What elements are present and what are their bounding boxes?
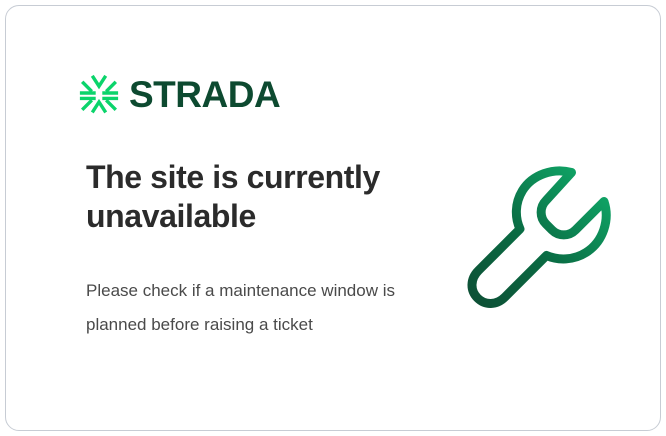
brand-wordmark: STRADA <box>129 76 280 113</box>
page-title: The site is currently unavailable <box>86 158 426 236</box>
strada-asterisk-icon <box>79 74 119 114</box>
page-background: STRADA The site is currently unavailable… <box>0 0 666 436</box>
wrench-icon <box>458 156 623 321</box>
status-card: STRADA The site is currently unavailable… <box>5 5 661 431</box>
brand-logo: STRADA <box>79 74 280 114</box>
page-description: Please check if a maintenance window is … <box>86 274 406 342</box>
